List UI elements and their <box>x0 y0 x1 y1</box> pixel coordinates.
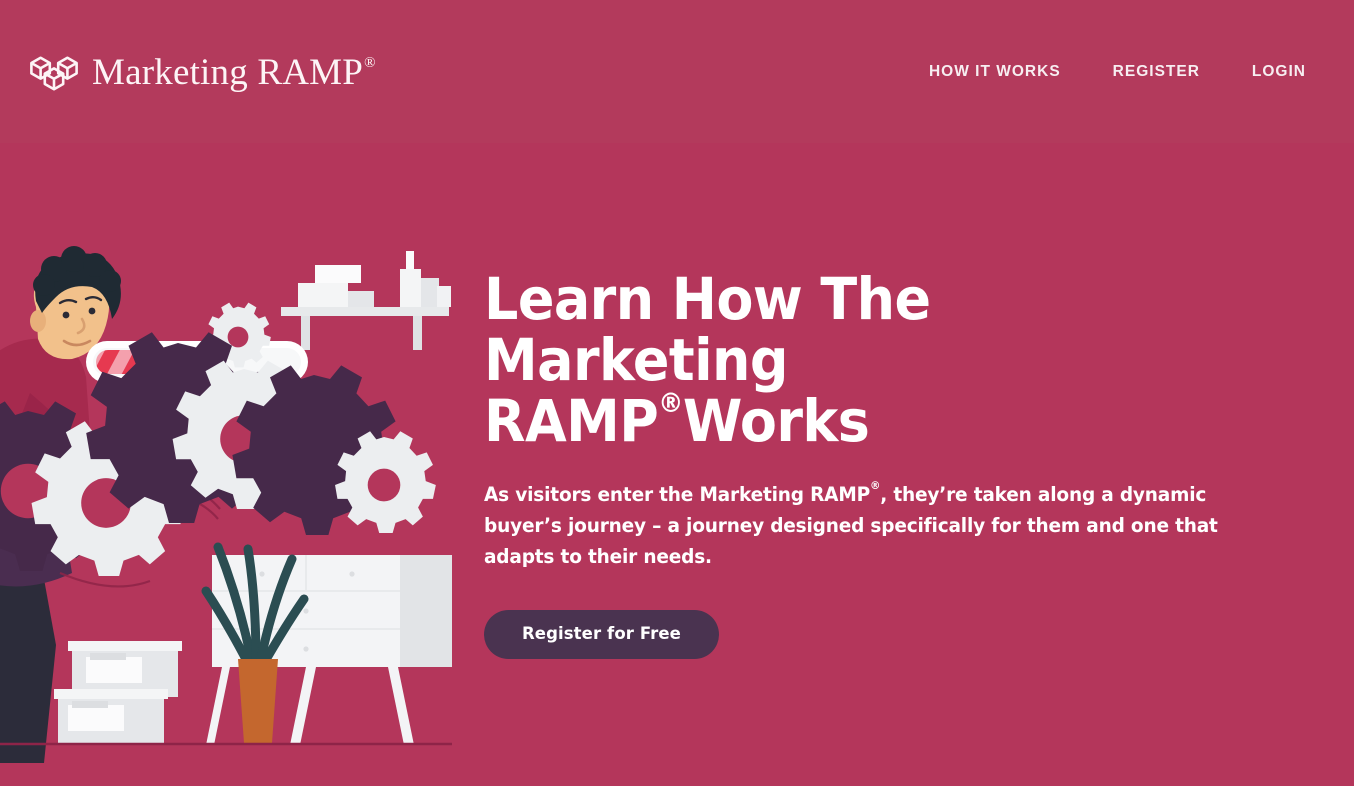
hero-section: Learn How The MarketingRAMP®Works As vis… <box>0 143 1354 786</box>
site-header: Marketing RAMP® HOW IT WORKS REGISTER LO… <box>0 0 1354 143</box>
stacked-boxes <box>54 641 182 745</box>
brand-logo[interactable]: Marketing RAMP® <box>28 49 375 97</box>
hero-subtitle-part1: As visitors enter the Marketing RAMP <box>484 483 870 506</box>
nav-how-it-works[interactable]: HOW IT WORKS <box>903 53 1087 91</box>
main-navigation: HOW IT WORKS REGISTER LOGIN <box>903 53 1318 91</box>
page-title: Learn How The MarketingRAMP®Works <box>484 269 1219 452</box>
page-title-line3: Works <box>683 387 869 455</box>
nav-login[interactable]: LOGIN <box>1226 53 1318 91</box>
page-title-line2: RAMP <box>484 387 658 455</box>
hero-subtitle: As visitors enter the Marketing RAMP®, t… <box>484 479 1235 572</box>
title-registered-mark: ® <box>658 388 683 419</box>
hero-copy: Learn How The MarketingRAMP®Works As vis… <box>484 269 1274 659</box>
brand-name: Marketing RAMP® <box>92 54 375 91</box>
subtitle-registered-mark: ® <box>870 479 880 492</box>
man-pushing-progress-bar-with-gears-illustration <box>0 243 452 766</box>
register-for-free-button[interactable]: Register for Free <box>484 610 719 659</box>
brand-registered-mark: ® <box>364 55 376 71</box>
nav-register[interactable]: REGISTER <box>1087 53 1226 91</box>
wall-shelf-group <box>281 251 451 350</box>
heart-cubes-icon <box>28 49 80 97</box>
page-title-line1: Learn How The Marketing <box>484 265 930 394</box>
